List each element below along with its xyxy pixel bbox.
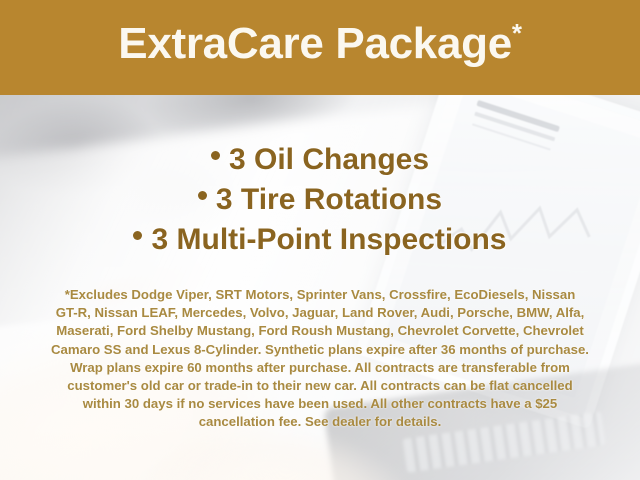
disclaimer-line: Camaro SS and Lexus 8-Cylinder. Syntheti… [32, 341, 608, 359]
bullet-dot-icon [133, 231, 142, 240]
disclaimer-text: *Excludes Dodge Viper, SRT Motors, Sprin… [32, 286, 608, 432]
list-item: 3 Tire Rotations [0, 180, 640, 220]
page-title-text: ExtraCare Package [118, 19, 512, 68]
bullet-dot-icon [211, 151, 220, 160]
disclaimer-line: cancellation fee. See dealer for details… [32, 413, 608, 431]
page-title-asterisk: * [512, 18, 522, 48]
disclaimer-line: GT-R, Nissan LEAF, Mercedes, Volvo, Jagu… [32, 304, 608, 322]
list-item-label: 3 Oil Changes [229, 143, 429, 176]
header-band: ExtraCare Package* [0, 0, 640, 95]
list-item: 3 Oil Changes [0, 140, 640, 180]
benefits-list: 3 Oil Changes 3 Tire Rotations 3 Multi-P… [0, 140, 640, 260]
disclaimer-line: customer's old car or trade-in to their … [32, 377, 608, 395]
disclaimer-line: Wrap plans expire 60 months after purcha… [32, 359, 608, 377]
bullet-dot-icon [198, 191, 207, 200]
disclaimer-line: within 30 days if no services have been … [32, 395, 608, 413]
list-item-label: 3 Multi-Point Inspections [151, 223, 506, 256]
list-item: 3 Multi-Point Inspections [0, 220, 640, 260]
disclaimer-line: *Excludes Dodge Viper, SRT Motors, Sprin… [32, 286, 608, 304]
page-title: ExtraCare Package* [0, 16, 640, 72]
extracare-package-promo-banner: ExtraCare Package* 3 Oil Changes 3 Tire … [0, 0, 640, 480]
list-item-label: 3 Tire Rotations [216, 183, 442, 216]
disclaimer-line: Maserati, Ford Shelby Mustang, Ford Rous… [32, 322, 608, 340]
